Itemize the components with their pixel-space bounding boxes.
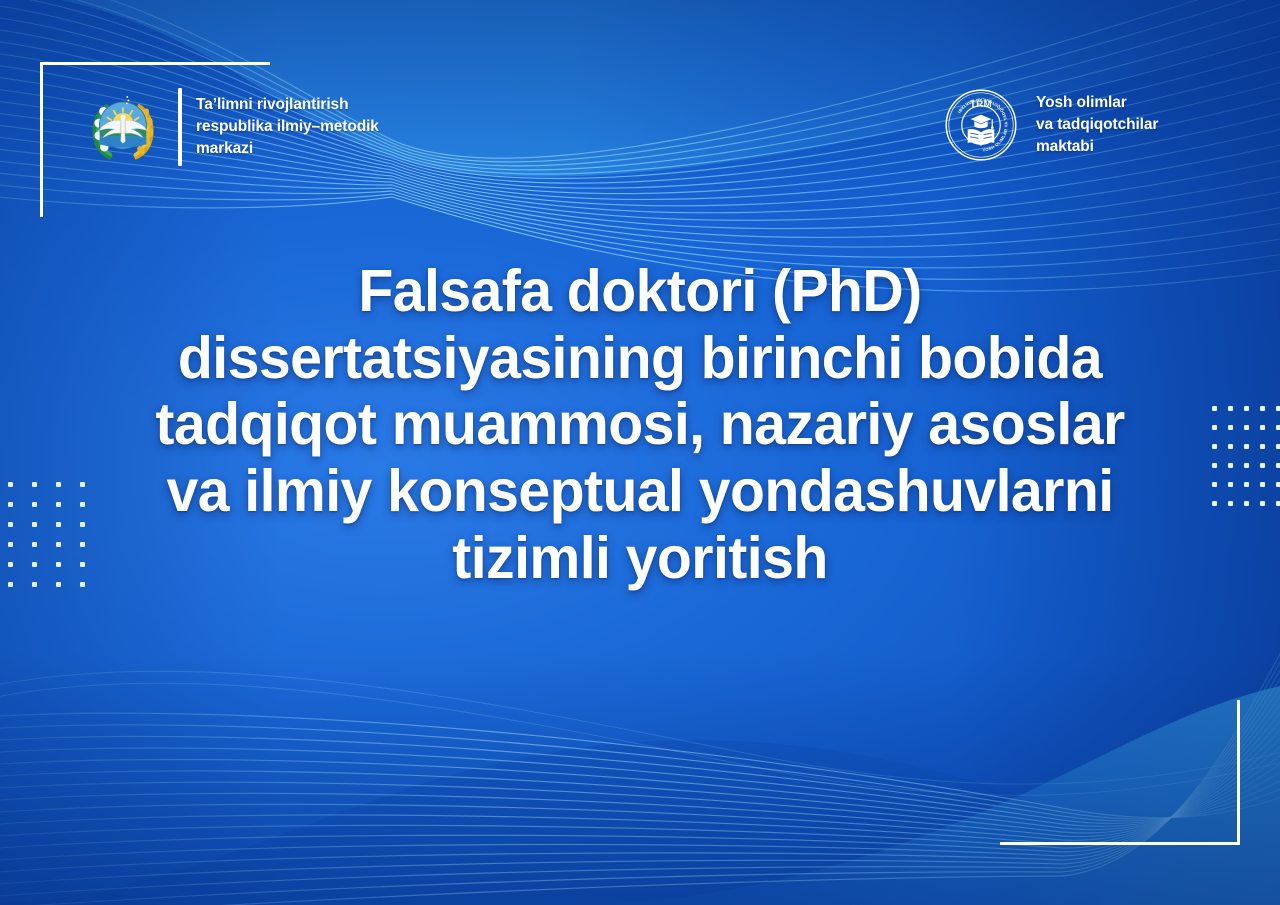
title-block: Falsafa doktori (PhD) dissertatsiyasinin… [75, 258, 1205, 591]
trm-school-seal-icon: TRM YOSH OLIMLAR VA TADQIQOTCHILAR MAKTA… [944, 88, 1018, 162]
page-title: Falsafa doktori (PhD) dissertatsiyasinin… [92, 258, 1188, 591]
right-organization-name: Yosh olimlar va tadqiqotchilar maktabi [1036, 92, 1158, 158]
dot-grid-right [1212, 406, 1280, 526]
corner-bracket-bottom-right [1000, 700, 1240, 845]
uzbekistan-state-emblem-icon [84, 88, 162, 166]
logo-lockup-left: Ta’limni rivojlantirish respublika ilmiy… [84, 88, 379, 166]
logo-divider [178, 88, 182, 166]
logo-lockup-right: TRM YOSH OLIMLAR VA TADQIQOTCHILAR MAKTA… [944, 88, 1158, 162]
title-slide: Ta’limni rivojlantirish respublika ilmiy… [0, 0, 1280, 905]
left-organization-name: Ta’limni rivojlantirish respublika ilmiy… [196, 94, 379, 160]
